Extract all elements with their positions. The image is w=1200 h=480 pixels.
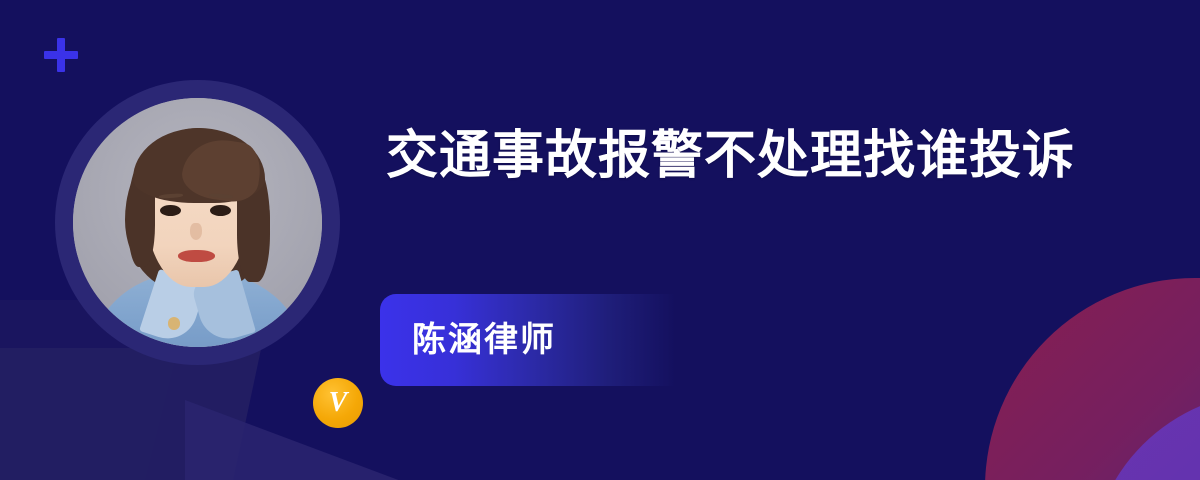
page-title: 交通事故报警不处理找谁投诉 (386, 118, 1146, 194)
portrait-lips (178, 250, 215, 262)
avatar: V (55, 80, 340, 365)
headline-block: 交通事故报警不处理找谁投诉 (386, 118, 1146, 194)
author-name-badge: 陈涵律师 (380, 294, 716, 386)
verified-badge-label: V (329, 389, 348, 417)
author-name-label: 陈涵律师 (412, 323, 556, 357)
verified-v-icon: V (313, 378, 363, 428)
plus-icon (44, 38, 78, 72)
avatar-photo (73, 98, 322, 347)
portrait-necklace (168, 317, 180, 329)
deco-magenta-circle (985, 278, 1200, 480)
deco-triangle-left (0, 348, 261, 480)
article-cover-banner: V 交通事故报警不处理找谁投诉 陈涵律师 (0, 0, 1200, 480)
deco-purple-circle (1090, 392, 1200, 480)
